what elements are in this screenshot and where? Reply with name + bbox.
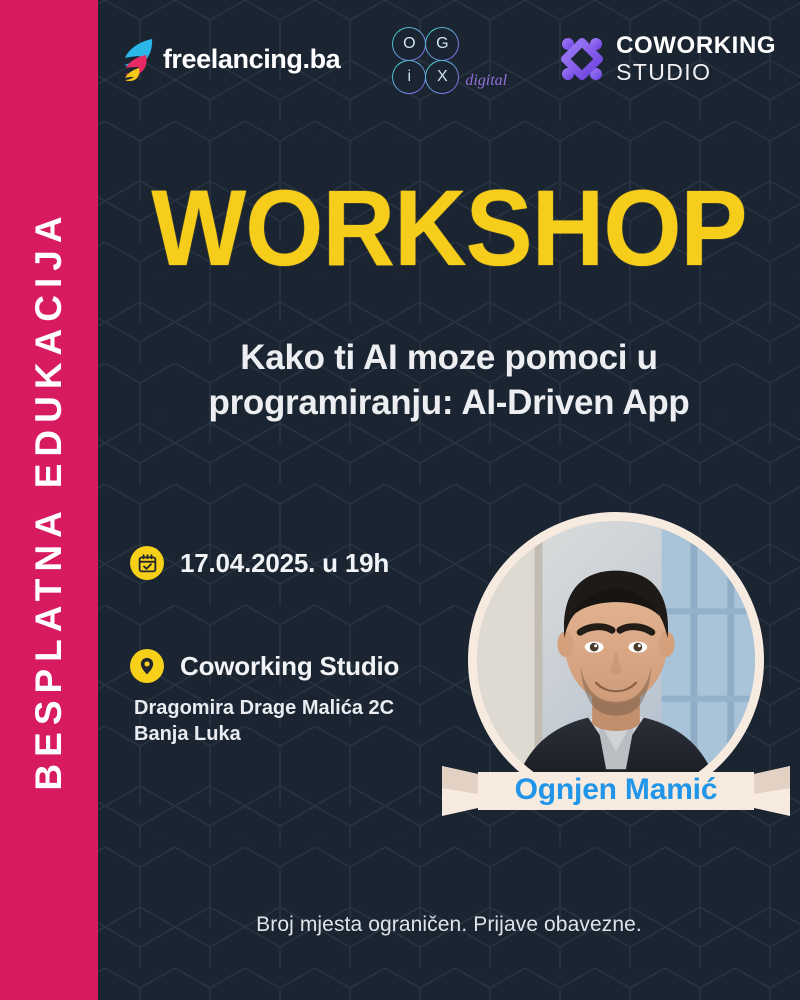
subtitle-line-2: programiranju: AI-Driven App — [112, 381, 786, 426]
detail-date: 17.04.2025. u 19h — [130, 546, 470, 580]
event-details: 17.04.2025. u 19h Coworking Studio Drago… — [130, 546, 470, 747]
footer-note: Broj mjesta ograničen. Prijave obavezne. — [98, 913, 800, 937]
freelancing-wordmark: freelancing.ba — [163, 44, 340, 75]
ogix-letter-i: i — [392, 60, 426, 94]
address-line-1: Dragomira Drage Malića 2C — [134, 696, 470, 722]
sponsor-logo-bar: freelancing.ba O G i X digital — [98, 0, 800, 118]
coworking-line2: STUDIO — [616, 61, 776, 84]
logo-ogix-digital[interactable]: O G i X digital — [392, 27, 507, 92]
coworking-line1: COWORKING — [616, 34, 776, 58]
logo-freelancing-ba[interactable]: freelancing.ba — [122, 37, 340, 81]
detail-location: Coworking Studio — [130, 649, 470, 683]
speaker-photo — [477, 521, 755, 799]
ogix-letter-x: X — [425, 60, 459, 94]
coworking-diamond-icon — [559, 36, 605, 82]
sash-label: BESPLATNA EDUKACIJA — [28, 209, 70, 790]
location-text: Coworking Studio — [180, 651, 399, 682]
date-text: 17.04.2025. u 19h — [180, 548, 389, 579]
ogix-wordmark: digital — [465, 72, 507, 90]
feather-quill-icon — [122, 37, 156, 81]
event-poster: BESPLATNA EDUKACIJA freelancing.ba O G i… — [0, 0, 800, 1000]
subtitle-line-1: Kako ti AI moze pomoci u — [112, 336, 786, 381]
poster-content: WORKSHOP Kako ti AI moze pomoci u progra… — [98, 118, 800, 1000]
logo-coworking-studio[interactable]: COWORKING STUDIO — [559, 34, 776, 84]
ogix-letter-g: G — [425, 27, 459, 61]
address-block: Dragomira Drage Malića 2C Banja Luka — [134, 696, 470, 747]
map-pin-icon — [130, 649, 164, 683]
left-pink-sash: BESPLATNA EDUKACIJA — [0, 0, 98, 1000]
speaker-name-ribbon: Ognjen Mamić — [442, 764, 790, 818]
ogix-letter-o: O — [392, 27, 426, 61]
calendar-check-icon — [130, 546, 164, 580]
page-title: WORKSHOP — [123, 174, 776, 282]
address-line-2: Banja Luka — [134, 722, 470, 748]
speaker-name: Ognjen Mamić — [442, 764, 790, 818]
speaker-portrait-block: Ognjen Mamić — [468, 512, 764, 808]
ogix-letter-grid: O G i X — [392, 27, 457, 92]
subtitle: Kako ti AI moze pomoci u programiranju: … — [112, 336, 786, 426]
